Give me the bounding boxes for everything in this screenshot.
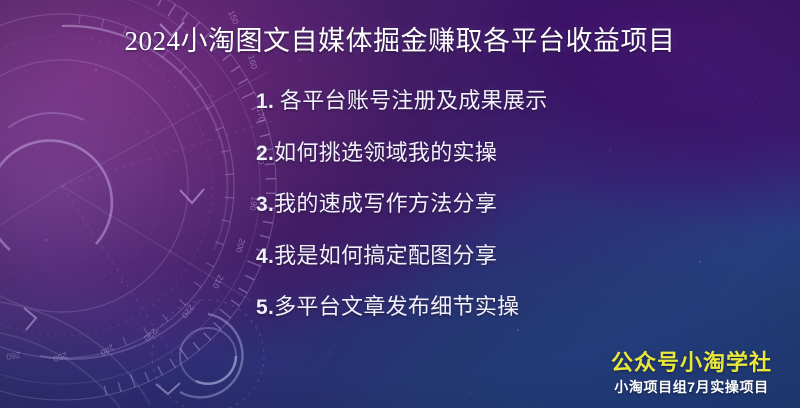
agenda-list: 1. 各平台账号注册及成果展示 2.如何挑选领域我的实操 3.我的速成写作方法分…	[256, 86, 686, 344]
agenda-item-4-label: 我是如何搞定配图分享	[274, 243, 497, 268]
agenda-item-1: 1. 各平台账号注册及成果展示	[256, 86, 686, 138]
agenda-item-5-number: 5.	[256, 296, 274, 319]
watermark: 公众号小淘学社 小淘项目组7月实操项目	[611, 350, 772, 396]
agenda-item-1-label: 各平台账号注册及成果展示	[274, 88, 547, 113]
slide-content: 2024小淘图文自媒体掘金赚取各平台收益项目 1. 各平台账号注册及成果展示 2…	[0, 0, 800, 408]
watermark-account-name: 公众号小淘学社	[611, 350, 772, 376]
agenda-item-5-label: 多平台文章发布细节实操	[274, 294, 519, 319]
agenda-item-1-number: 1.	[256, 90, 274, 113]
agenda-item-3-label: 我的速成写作方法分享	[274, 191, 497, 216]
agenda-item-2: 2.如何挑选领域我的实操	[256, 138, 686, 190]
agenda-item-2-label: 如何挑选领域我的实操	[274, 140, 497, 165]
slide-title: 2024小淘图文自媒体掘金赚取各平台收益项目	[0, 24, 800, 58]
presentation-slide: 150 160 170 180 190 200 210 220 230 240 …	[0, 0, 800, 408]
watermark-subtitle: 小淘项目组7月实操项目	[611, 378, 772, 396]
agenda-item-5: 5.多平台文章发布细节实操	[256, 292, 686, 344]
agenda-item-4: 4.我是如何搞定配图分享	[256, 241, 686, 293]
agenda-item-4-number: 4.	[256, 245, 274, 268]
agenda-item-3: 3.我的速成写作方法分享	[256, 189, 686, 241]
agenda-item-2-number: 2.	[256, 142, 274, 165]
agenda-item-3-number: 3.	[256, 193, 274, 216]
